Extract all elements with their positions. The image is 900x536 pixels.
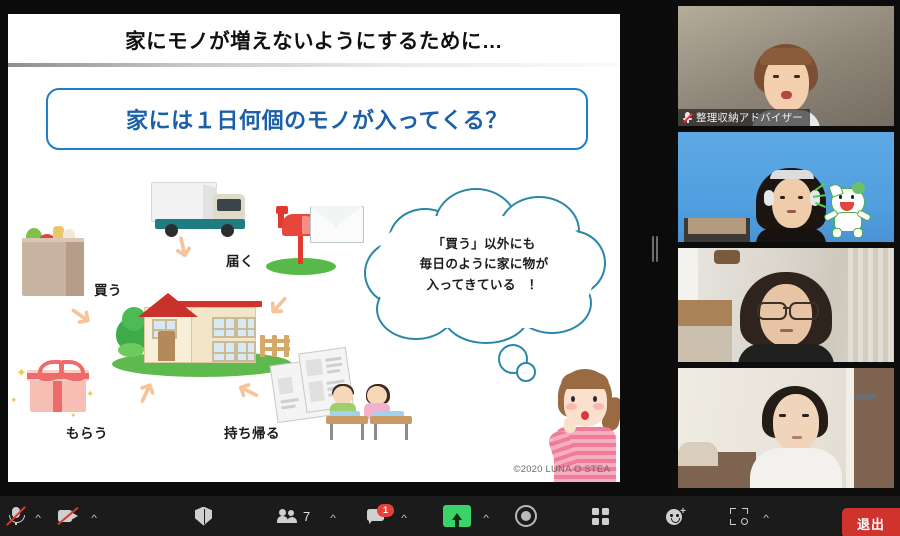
slide-title-text: 家にモノが増えないようにするために… [125, 24, 503, 54]
chevron-up-icon: ^ [763, 513, 769, 523]
breakout-caret[interactable]: ^ [758, 496, 774, 536]
sparkle-icon: ✦ [10, 396, 18, 405]
chat-icon: 1 [367, 509, 385, 524]
microphone-muted-icon [4, 507, 28, 525]
audio-options-caret[interactable]: ^ [30, 496, 46, 536]
delivery-truck-illustration [151, 182, 251, 240]
video-tile-1[interactable]: 整理収納アドバイザー [678, 6, 894, 126]
participants-caret[interactable]: ^ [325, 496, 341, 536]
participants-button[interactable]: 7 [277, 496, 310, 536]
sparkle-icon: ✦ [86, 390, 94, 400]
arrow-icon: ➜ [165, 232, 200, 263]
apps-grid-icon [592, 508, 609, 525]
video-tile-3[interactable] [678, 248, 894, 362]
students-illustration [326, 384, 422, 442]
record-button[interactable] [515, 496, 537, 536]
share-screen-button[interactable] [443, 496, 471, 536]
participants-icon [277, 509, 299, 523]
title-divider [8, 63, 620, 67]
mic-muted-icon [683, 112, 692, 123]
breakout-rooms-button[interactable] [730, 496, 748, 536]
envelope-illustration [310, 206, 364, 243]
video-options-caret[interactable]: ^ [86, 496, 102, 536]
shield-icon [195, 507, 212, 526]
zoom-meeting-window: 家にモノが増えないようにするために… 家には１日何個のモノが入ってくる？ 買う … [0, 0, 900, 536]
video-tile-1-name: 整理収納アドバイザー [696, 110, 803, 125]
share-options-caret[interactable]: ^ [478, 496, 494, 536]
sparkle-icon: ✦ [16, 366, 27, 379]
thought-bubble-text: 「買う」以外にも 毎日のように家に物が 入ってきている ！ [360, 234, 608, 295]
video-tile-2[interactable] [678, 132, 894, 242]
leave-meeting-button[interactable]: 退出 [842, 508, 900, 536]
reactions-smiley-icon: + [666, 507, 686, 525]
shared-screen-area[interactable]: 家にモノが増えないようにするために… 家には１日何個のモノが入ってくる？ 買う … [0, 0, 672, 496]
chevron-up-icon: ^ [483, 513, 489, 523]
thought-bubble: 「買う」以外にも 毎日のように家に物が 入ってきている ！ [360, 186, 608, 366]
arrow-icon: ➜ [62, 297, 100, 336]
video-thumbnail-strip: 整理収納アドバイザー [672, 0, 900, 496]
chevron-up-icon: ^ [35, 513, 41, 523]
label-receive: もらう [66, 422, 108, 442]
video-tile-1-nametag: 整理収納アドバイザー [678, 109, 810, 126]
chat-unread-badge: 1 [377, 504, 394, 517]
slide-question-text: 家には１日何個のモノが入ってくる？ [126, 103, 508, 135]
camera-off-icon [56, 507, 80, 525]
video-tile-4[interactable] [678, 368, 894, 488]
mute-button[interactable] [4, 496, 28, 536]
sparkle-icon: ✦ [70, 412, 77, 420]
leave-meeting-label: 退出 [857, 514, 885, 533]
participants-count: 7 [303, 509, 310, 524]
meeting-toolbar: ^ ^ 7 ^ 1 ^ [0, 496, 900, 536]
grocery-bag-illustration [22, 226, 84, 296]
gift-box-illustration [30, 362, 86, 412]
presentation-slide: 家にモノが増えないようにするために… 家には１日何個のモノが入ってくる？ 買う … [8, 14, 620, 482]
start-video-button[interactable] [56, 496, 80, 536]
security-button[interactable] [195, 496, 212, 536]
chat-caret[interactable]: ^ [396, 496, 412, 536]
cat-mascot-icon [826, 182, 868, 236]
apps-button[interactable] [592, 496, 609, 536]
chevron-up-icon: ^ [401, 513, 407, 523]
reactions-button[interactable]: + [666, 496, 686, 536]
share-screen-icon [443, 505, 471, 527]
copyright-notice: ©2020 LUNA O STEA [514, 464, 610, 475]
label-deliver: 届く [226, 250, 254, 270]
label-bring-home: 持ち帰る [224, 422, 280, 442]
breakout-rooms-icon [730, 508, 748, 525]
chevron-up-icon: ^ [330, 513, 336, 523]
chevron-up-icon: ^ [91, 513, 97, 523]
slide-question-box: 家には１日何個のモノが入ってくる？ [46, 88, 588, 150]
panel-resize-handle[interactable] [650, 236, 660, 262]
record-icon [515, 505, 537, 527]
slide-title: 家にモノが増えないようにするために… [8, 14, 620, 63]
chat-button[interactable]: 1 [367, 496, 385, 536]
